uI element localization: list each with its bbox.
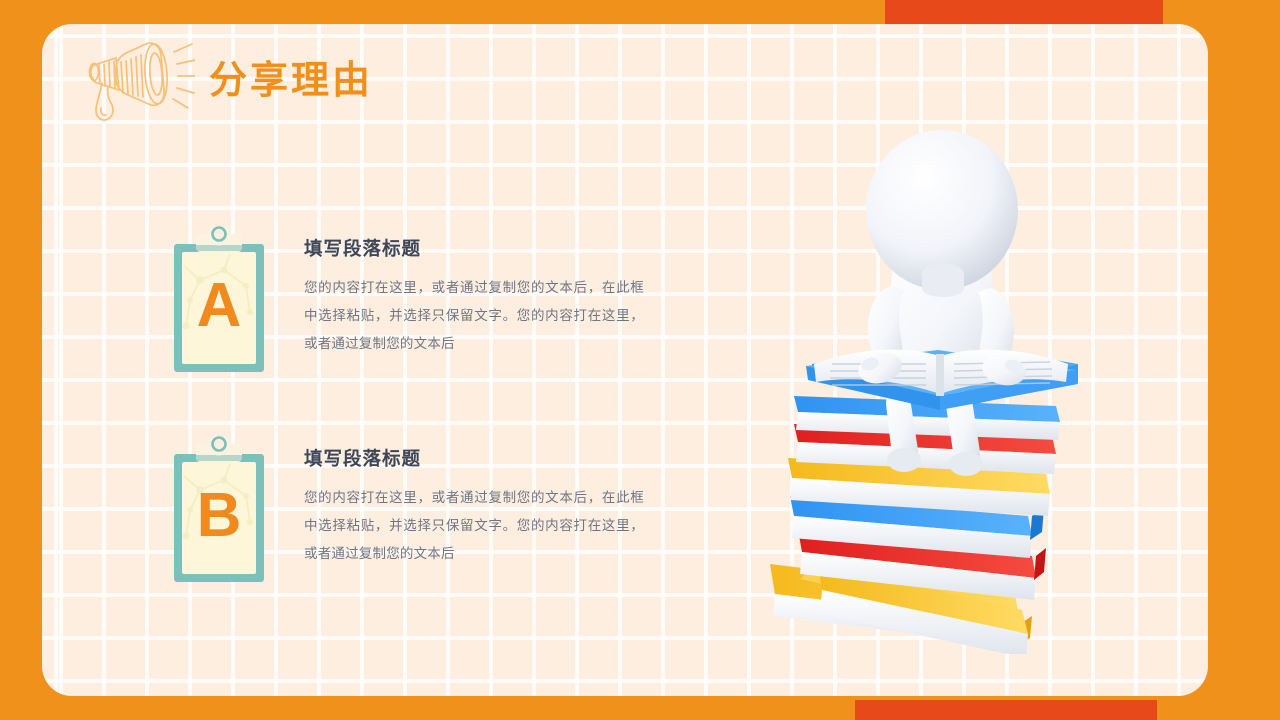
slide-root: 分享理由: [0, 0, 1280, 720]
clipboard-icon: A: [170, 226, 268, 376]
block-body: 您的内容打在这里，或者通过复制您的文本后，在此框中选择粘贴，并选择只保留文字。您…: [304, 484, 644, 567]
slide-header: 分享理由: [80, 36, 373, 126]
clipboard-icon: B: [170, 436, 268, 586]
content-block-a[interactable]: A 填写段落标题 您的内容打在这里，或者通过复制您的文本后，在此框中选择粘贴，并…: [170, 220, 644, 376]
block-text: 填写段落标题 您的内容打在这里，或者通过复制您的文本后，在此框中选择粘贴，并选择…: [304, 220, 644, 357]
illustration-figure-on-books: [760, 124, 1180, 654]
page-title: 分享理由: [209, 62, 373, 100]
accent-block-top: [885, 0, 1163, 26]
megaphone-icon: [80, 38, 195, 124]
content-block-b[interactable]: B 填写段落标题 您的内容打在这里，或者通过复制您的文本后，在此框中选择粘贴，并…: [170, 430, 644, 586]
block-text: 填写段落标题 您的内容打在这里，或者通过复制您的文本后，在此框中选择粘贴，并选择…: [304, 430, 644, 567]
block-heading: 填写段落标题: [304, 238, 644, 260]
accent-block-bottom: [855, 700, 1157, 720]
content-card: 分享理由: [42, 24, 1208, 696]
block-heading: 填写段落标题: [304, 448, 644, 470]
clipboard-letter: A: [197, 271, 242, 340]
clipboard-letter: B: [197, 481, 242, 550]
block-body: 您的内容打在这里，或者通过复制您的文本后，在此框中选择粘贴，并选择只保留文字。您…: [304, 274, 644, 357]
figure-head: [866, 130, 1018, 297]
